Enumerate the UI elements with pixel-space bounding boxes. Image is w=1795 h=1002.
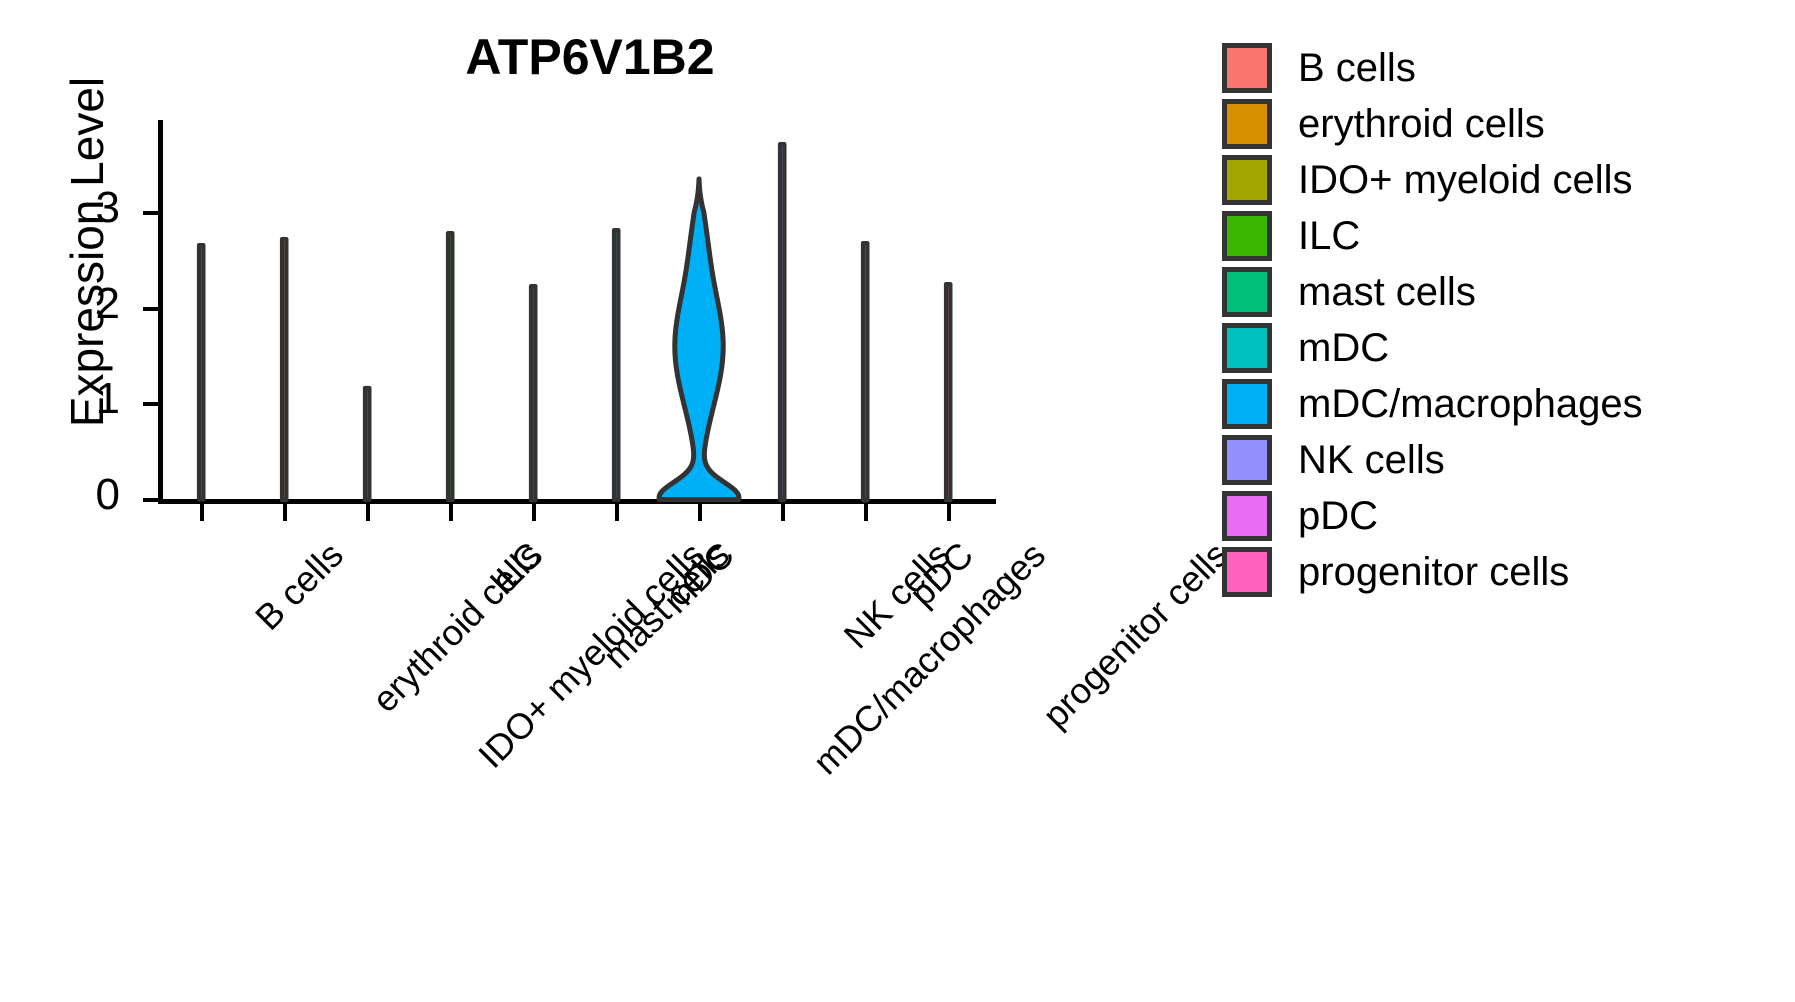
- y-tick-mark: [143, 498, 159, 502]
- legend-item-label: IDO+ myeloid cells: [1298, 158, 1633, 203]
- page-title: ATP6V1B2: [90, 28, 1090, 86]
- legend-item-label: erythroid cells: [1298, 102, 1545, 147]
- legend-item-label: progenitor cells: [1298, 550, 1569, 595]
- legend-item[interactable]: erythroid cells: [1222, 96, 1643, 152]
- y-tick-label: 0: [0, 470, 120, 520]
- violin-mast-cells: [525, 286, 541, 500]
- violin-progenitor-cells: [940, 284, 956, 500]
- legend-item-label: B cells: [1298, 46, 1416, 91]
- legend-item-label: pDC: [1298, 494, 1378, 539]
- y-tick-mark: [143, 402, 159, 406]
- x-tick-mark: [698, 504, 702, 521]
- legend-color-swatch: [1222, 379, 1272, 429]
- legend-color-swatch: [1222, 43, 1272, 93]
- legend-color-swatch: [1222, 99, 1272, 149]
- legend-item-label: mDC: [1298, 326, 1389, 371]
- legend-color-swatch: [1222, 547, 1272, 597]
- x-tick-mark: [947, 504, 951, 521]
- y-tick-mark: [143, 307, 159, 311]
- x-tick-mark: [283, 504, 287, 521]
- violin-erythroid-cells: [276, 239, 292, 500]
- violin-ilc: [442, 233, 458, 500]
- legend-item[interactable]: progenitor cells: [1222, 544, 1643, 600]
- y-tick-mark: [143, 211, 159, 215]
- x-tick-mark: [366, 504, 370, 521]
- violin-plot-figure: ATP6V1B2 Expression Level 3210 B cellser…: [0, 0, 1795, 1002]
- violin-mdc-macrophages: [654, 179, 744, 500]
- legend-color-swatch: [1222, 491, 1272, 541]
- legend-item-label: NK cells: [1298, 438, 1445, 483]
- legend-item[interactable]: pDC: [1222, 488, 1643, 544]
- legend-item[interactable]: mDC: [1222, 320, 1643, 376]
- legend-item-label: ILC: [1298, 214, 1360, 259]
- legend-item-label: mast cells: [1298, 270, 1476, 315]
- legend-color-swatch: [1222, 267, 1272, 317]
- legend-item[interactable]: mDC/macrophages: [1222, 376, 1643, 432]
- x-tick-label: B cells: [247, 534, 352, 639]
- x-tick-mark: [449, 504, 453, 521]
- plot-panel: [160, 122, 990, 500]
- violin-b-cells: [193, 245, 209, 500]
- x-tick-mark: [200, 504, 204, 521]
- y-tick-label: 2: [0, 279, 120, 329]
- legend-item[interactable]: B cells: [1222, 40, 1643, 96]
- legend-color-swatch: [1222, 211, 1272, 261]
- legend-color-swatch: [1222, 155, 1272, 205]
- legend-color-swatch: [1222, 435, 1272, 485]
- legend-item-label: mDC/macrophages: [1298, 382, 1643, 427]
- legend-color-swatch: [1222, 323, 1272, 373]
- x-tick-mark: [615, 504, 619, 521]
- violin-ido-myeloid-cells: [359, 388, 375, 500]
- legend-item[interactable]: mast cells: [1222, 264, 1643, 320]
- legend-item[interactable]: NK cells: [1222, 432, 1643, 488]
- x-tick-mark: [781, 504, 785, 521]
- x-tick-label: progenitor cells: [1034, 534, 1236, 736]
- violin-pdc: [857, 243, 873, 500]
- x-tick-mark: [532, 504, 536, 521]
- y-tick-label: 3: [0, 183, 120, 233]
- x-tick-mark: [864, 504, 868, 521]
- legend: B cellserythroid cellsIDO+ myeloid cells…: [1222, 40, 1643, 600]
- violin-mdc: [608, 230, 624, 500]
- y-tick-label: 1: [0, 374, 120, 424]
- violin-nk-cells: [774, 144, 790, 500]
- legend-item[interactable]: ILC: [1222, 208, 1643, 264]
- legend-item[interactable]: IDO+ myeloid cells: [1222, 152, 1643, 208]
